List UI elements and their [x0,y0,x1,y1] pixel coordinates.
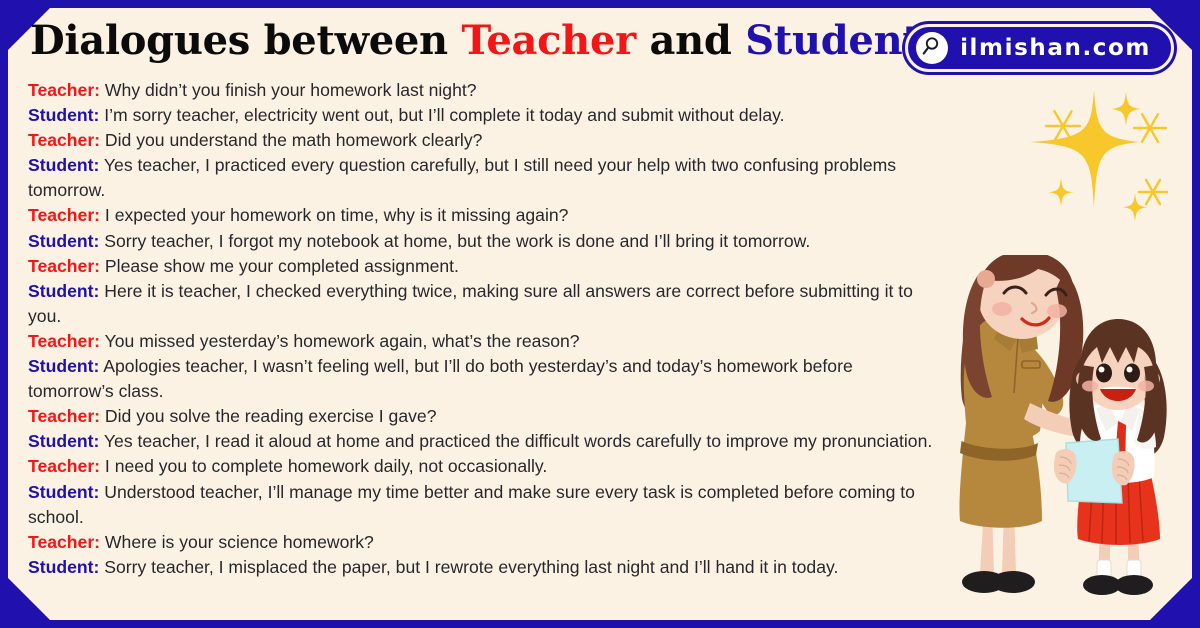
dialogue-line: Teacher: I need you to complete homework… [28,454,938,479]
speaker-label-student: Student: [28,482,99,502]
dialogue-line: Teacher: Where is your science homework? [28,530,938,555]
dialogue-line: Teacher: Did you understand the math hom… [28,128,938,153]
speaker-label-teacher: Teacher: [28,256,100,276]
speaker-label-teacher: Teacher: [28,456,100,476]
dialogue-text: Here it is teacher, I checked everything… [28,281,913,326]
title-word-teacher: Teacher [461,17,635,64]
title-word-student: Student [745,17,920,64]
dialogue-text: Sorry teacher, I forgot my notebook at h… [99,231,810,251]
speaker-label-teacher: Teacher: [28,532,100,552]
title-conjunction: and [636,17,745,64]
speaker-label-student: Student: [28,155,99,175]
speaker-label-student: Student: [28,281,99,301]
speaker-label-student: Student: [28,231,99,251]
dialogue-text: Did you understand the math homework cle… [100,130,482,150]
speaker-label-teacher: Teacher: [28,130,100,150]
speaker-label-teacher: Teacher: [28,205,100,225]
title-lead: Dialogues between [30,17,461,64]
dialogue-text: Where is your science homework? [100,532,374,552]
speaker-label-student: Student: [28,557,99,577]
dialogue-text: You missed yesterday’s homework again, w… [100,331,580,351]
dialogue-text: Please show me your completed assignment… [100,256,459,276]
search-icon [916,32,948,64]
dialogue-line: Teacher: You missed yesterday’s homework… [28,329,938,354]
speaker-label-teacher: Teacher: [28,331,100,351]
speaker-label-student: Student: [28,431,99,451]
dialogue-text: I’m sorry teacher, electricity went out,… [99,105,784,125]
speaker-label-student: Student: [28,356,99,376]
dialogue-line: Student: Here it is teacher, I checked e… [28,279,938,329]
dialogue-line: Student: I’m sorry teacher, electricity … [28,103,938,128]
dialogue-line: Student: Sorry teacher, I misplaced the … [28,555,938,580]
poster-canvas: Dialogues between Teacher and Student il… [0,0,1200,628]
dialogue-line: Student: Yes teacher, I practiced every … [28,153,938,203]
dialogue-line: Student: Yes teacher, I read it aloud at… [28,429,938,454]
dialogue-line: Teacher: Please show me your completed a… [28,254,938,279]
site-logo-badge[interactable]: ilmishan.com [905,24,1174,72]
header: Dialogues between Teacher and Student il… [0,12,1200,74]
dialogue-line: Student: Apologies teacher, I wasn’t fee… [28,354,938,404]
speaker-label-teacher: Teacher: [28,406,100,426]
dialogue-text: Yes teacher, I practiced every question … [28,155,896,200]
site-logo-text: ilmishan.com [960,35,1151,61]
dialogue-line: Student: Understood teacher, I’ll manage… [28,480,938,530]
dialogue-text: Apologies teacher, I wasn’t feeling well… [28,356,853,401]
dialogue-text: Why didn’t you finish your homework last… [100,80,477,100]
speaker-label-teacher: Teacher: [28,80,100,100]
dialogue-text: I expected your homework on time, why is… [100,205,568,225]
dialogue-text: Understood teacher, I’ll manage my time … [28,482,915,527]
dialogue-line: Teacher: Why didn’t you finish your home… [28,78,938,103]
dialogue-list: Teacher: Why didn’t you finish your home… [28,78,938,580]
dialogue-line: Teacher: I expected your homework on tim… [28,203,938,228]
speaker-label-student: Student: [28,105,99,125]
dialogue-line: Teacher: Did you solve the reading exerc… [28,404,938,429]
dialogue-text: Did you solve the reading exercise I gav… [100,406,436,426]
dialogue-text: Yes teacher, I read it aloud at home and… [99,431,932,451]
dialogue-line: Student: Sorry teacher, I forgot my note… [28,229,938,254]
dialogue-text: Sorry teacher, I misplaced the paper, bu… [99,557,838,577]
page-title: Dialogues between Teacher and Student [30,16,921,66]
dialogue-text: I need you to complete homework daily, n… [100,456,547,476]
